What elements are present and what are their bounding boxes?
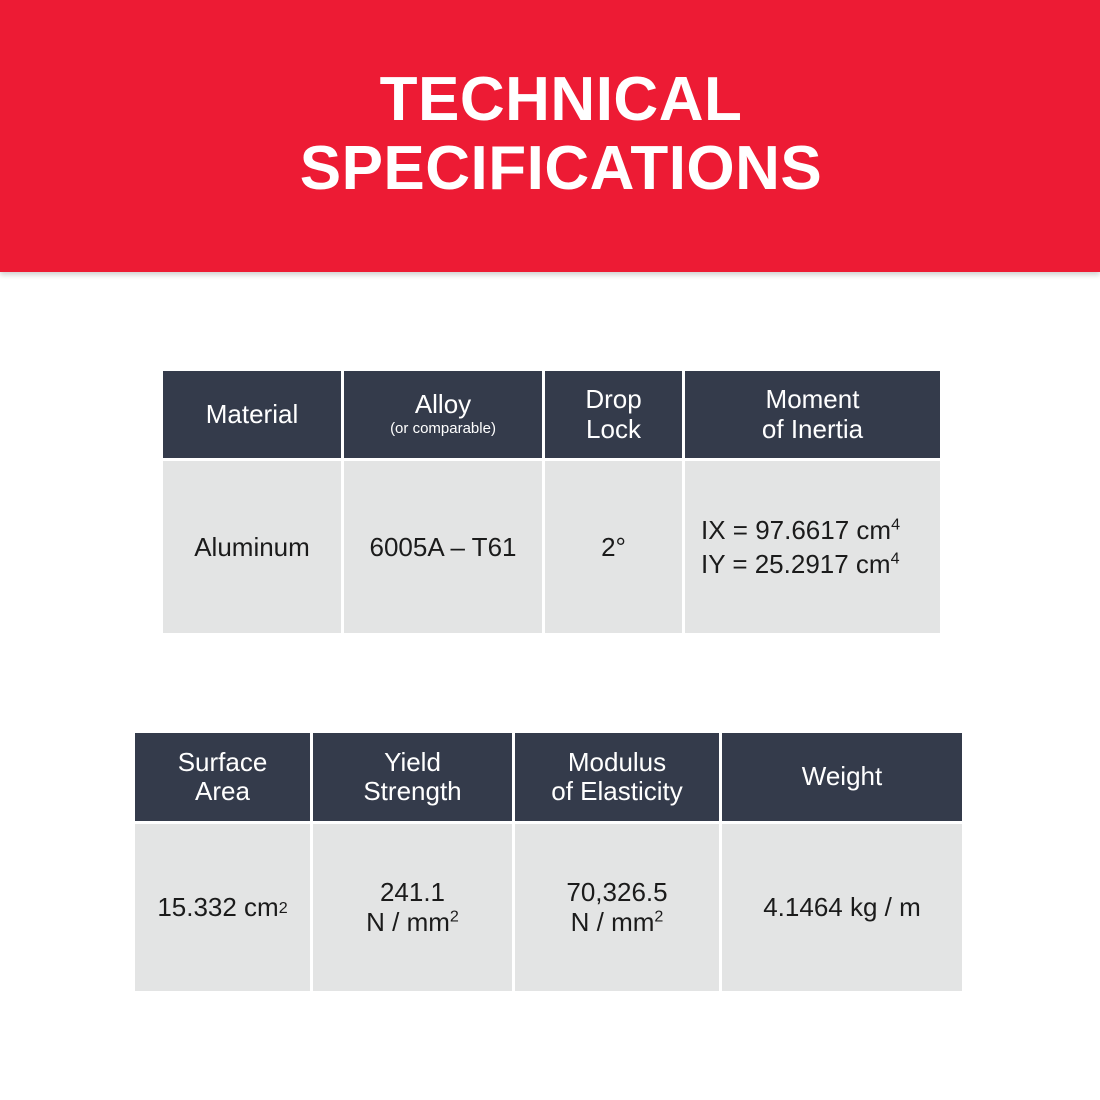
cell-surface-area-value: 15.332 cm [157,892,278,922]
column-header-weight-label: Weight [802,762,882,791]
primary-specifications-table: Material Alloy (or comparable) Drop Lock… [163,371,940,633]
header-banner: TECHNICAL SPECIFICATIONS [0,0,1100,272]
column-header-material-label: Material [206,400,298,429]
column-header-weight: Weight [722,733,962,821]
cell-moment-iy-value: IY = 25.2917 cm [701,549,891,579]
column-header-modulus-of-elasticity-label: Modulus of Elasticity [551,748,683,807]
cell-weight: 4.1464 kg / m [722,824,962,991]
cell-surface-area: 15.332 cm2 [135,824,310,991]
cell-modulus-value: 70,326.5 [566,878,667,907]
cell-modulus-unit: N / mm2 [571,908,664,937]
column-header-alloy: Alloy (or comparable) [344,371,542,458]
column-header-drop-lock-label: Drop Lock [585,385,641,444]
page-title: TECHNICAL SPECIFICATIONS [278,65,823,208]
cell-drop-lock: 2° [545,461,682,633]
column-header-alloy-sublabel: (or comparable) [390,420,496,439]
specifications-page: TECHNICAL SPECIFICATIONS Material Alloy … [0,0,1100,1100]
cell-weight-value: 4.1464 kg / m [763,892,921,922]
cell-material-value: Aluminum [194,532,310,562]
cell-alloy: 6005A – T61 [344,461,542,633]
column-header-surface-area-label: Surface Area [178,748,268,807]
cell-moment-ix: IX = 97.6617 cm4 [701,513,900,547]
cell-moment-iy-exponent: 4 [891,549,900,567]
cell-yield-strength: 241.1 N / mm2 [313,824,512,991]
table-row: 15.332 cm2 241.1 N / mm2 70,326.5 N / mm… [135,824,962,991]
column-header-yield-strength: Yield Strength [313,733,512,821]
column-header-material: Material [163,371,341,458]
table-row: Aluminum 6005A – T61 2° IX = 97.6617 cm4… [163,461,940,633]
cell-moment-ix-exponent: 4 [891,515,900,533]
cell-moment-of-inertia: IX = 97.6617 cm4 IY = 25.2917 cm4 [685,461,940,633]
cell-alloy-value: 6005A – T61 [370,532,517,562]
table-header-row: Surface Area Yield Strength Modulus of E… [135,733,962,821]
cell-yield-strength-unit: N / mm2 [366,908,459,937]
mechanical-properties-table: Surface Area Yield Strength Modulus of E… [135,733,962,991]
cell-moment-iy: IY = 25.2917 cm4 [701,547,900,581]
cell-modulus-of-elasticity: 70,326.5 N / mm2 [515,824,719,991]
cell-yield-strength-unit-text: N / mm [366,907,450,937]
column-header-modulus-of-elasticity: Modulus of Elasticity [515,733,719,821]
column-header-yield-strength-label: Yield Strength [363,748,461,807]
table-header-row: Material Alloy (or comparable) Drop Lock… [163,371,940,458]
column-header-moment-of-inertia: Moment of Inertia [685,371,940,458]
cell-drop-lock-value: 2° [601,532,626,562]
cell-yield-strength-value: 241.1 [380,878,445,907]
cell-moment-ix-value: IX = 97.6617 cm [701,515,891,545]
cell-modulus-unit-exponent: 2 [654,907,663,925]
cell-yield-strength-unit-exponent: 2 [450,907,459,925]
cell-material: Aluminum [163,461,341,633]
cell-modulus-unit-text: N / mm [571,907,655,937]
column-header-moment-of-inertia-label: Moment of Inertia [762,385,863,444]
column-header-surface-area: Surface Area [135,733,310,821]
column-header-alloy-label: Alloy [415,390,471,419]
column-header-drop-lock: Drop Lock [545,371,682,458]
